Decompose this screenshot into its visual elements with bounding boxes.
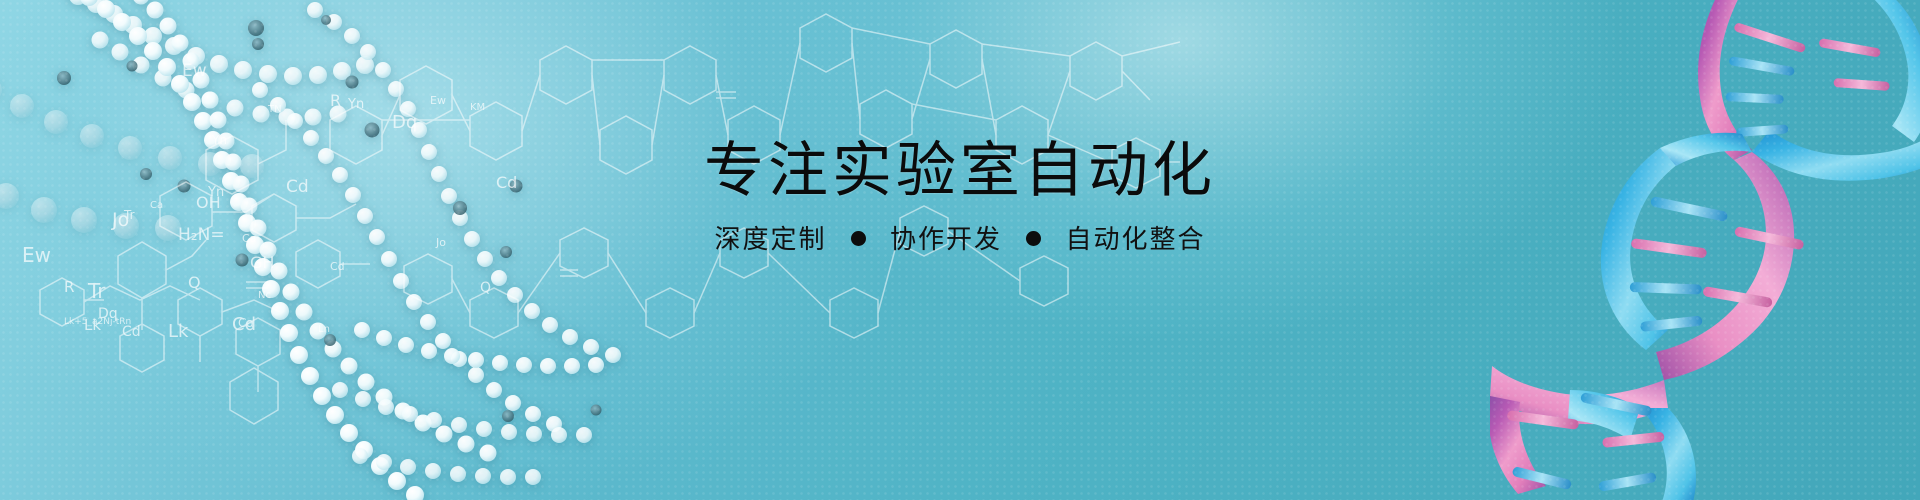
hero-text-block: 专注实验室自动化 深度定制 协作开发 自动化整合 [610,140,1310,256]
subtitle-segment-1: 深度定制 [714,225,826,256]
chem-label: Lk [168,321,189,342]
chem-label: Jo [435,236,446,249]
page-title: 专注实验室自动化 [610,140,1310,203]
chem-label: R [330,91,341,110]
chem-label: Nc [258,290,271,301]
chem-label: Dq [98,306,118,322]
chem-label: Yn [211,133,227,147]
chem-label: Cd [496,173,517,192]
chem-label: Cd [286,177,309,197]
chem-label: Cd [232,314,256,335]
chem-label: Cd [122,324,141,340]
chem-label: Q [188,273,201,292]
chem-label: R [64,278,74,296]
dna-helix-graphic [1490,0,1920,500]
chem-label: Ca [242,232,256,245]
bullet-separator-icon [851,231,866,246]
chem-label: Ew [22,243,51,267]
chem-label: Q [480,280,491,296]
chem-label: OH [196,193,221,212]
chem-label: KM [470,102,485,113]
hero-subtitle: 深度定制 协作开发 自动化整合 [610,225,1310,256]
chem-label: Cd [330,260,345,273]
chem-label: Ew [430,94,446,107]
subtitle-segment-2: 协作开发 [890,225,1002,256]
subtitle-segment-3: 自动化整合 [1066,225,1206,256]
chem-label: TN [267,104,282,115]
chem-label: Ew [182,61,207,81]
chem-label: Tr [123,208,135,222]
chem-label-group: TrLkLk+5_a2Nj-tRnJoTrH₂N=GHQCaCaYnYnCdLk… [22,61,517,342]
chem-label: Yn [347,97,364,112]
bullet-separator-icon [1026,231,1041,246]
hero-banner: TrLkLk+5_a2Nj-tRnJoTrH₂N=GHQCaCaYnYnCdLk… [0,0,1920,500]
chem-label: Ln [318,324,330,335]
chem-label: Ca [150,200,163,211]
chem-label: GH [250,253,274,272]
chem-label: H₂N= [178,225,225,245]
chem-label: Tr [87,279,106,303]
chem-label: Dq [392,112,417,133]
